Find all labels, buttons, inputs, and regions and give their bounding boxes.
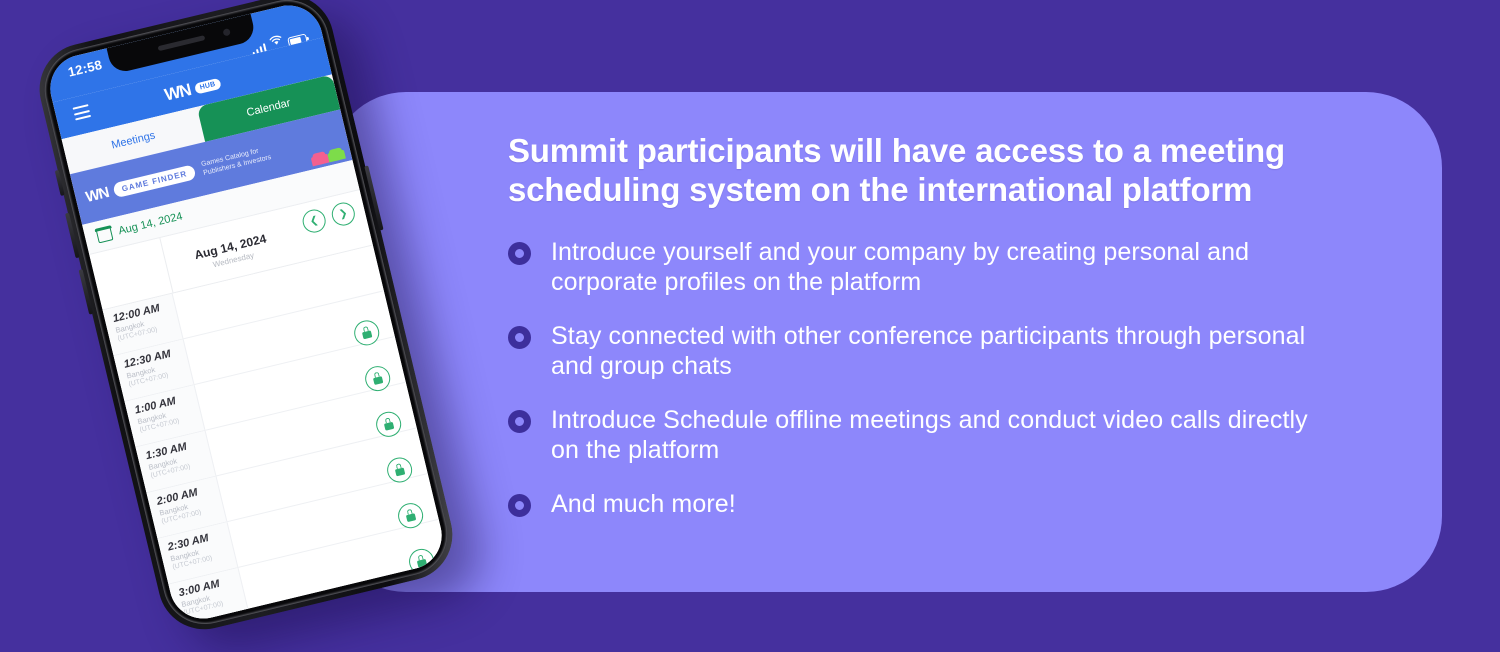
list-item: And much more!	[508, 489, 1390, 519]
list-item-label: And much more!	[551, 489, 736, 519]
alien-pink-icon	[312, 151, 327, 165]
front-camera-icon	[222, 28, 230, 36]
list-item-label: Introduce yourself and your company by c…	[551, 237, 1321, 297]
date-bar-label: Aug 14, 2024	[117, 210, 183, 237]
ring-bullet-icon	[508, 242, 531, 265]
app-logo-text: WN	[163, 80, 193, 106]
card-inner: Summit participants will have access to …	[508, 132, 1390, 519]
status-time: 12:58	[66, 57, 103, 80]
ring-bullet-icon	[508, 494, 531, 517]
time-slot-list: 12:00 AM Bangkok (UTC+07:00) 12:30 AM Ba…	[103, 246, 449, 626]
list-item-label: Stay connected with other conference par…	[551, 321, 1321, 381]
list-item: Stay connected with other conference par…	[508, 321, 1390, 381]
promo-subtitle: Games Catalog for Publishers & Investors	[200, 139, 290, 178]
app-logo[interactable]: WN HUB	[163, 73, 223, 106]
alien-green-icon	[329, 147, 344, 161]
hamburger-menu-icon[interactable]	[73, 104, 92, 124]
ring-bullet-icon	[508, 410, 531, 433]
list-item: Introduce yourself and your company by c…	[508, 237, 1390, 297]
earpiece-speaker-icon	[158, 35, 206, 51]
slot-body[interactable]	[260, 611, 448, 625]
content-card: Summit participants will have access to …	[330, 92, 1442, 592]
feature-list: Introduce yourself and your company by c…	[508, 237, 1390, 519]
list-item-label: Introduce Schedule offline meetings and …	[551, 405, 1321, 465]
lock-icon[interactable]	[417, 592, 447, 622]
ring-bullet-icon	[508, 326, 531, 349]
page-title: Summit participants will have access to …	[508, 132, 1348, 209]
app-logo-badge: HUB	[194, 77, 222, 94]
promo-logo-text: WN	[84, 184, 110, 206]
list-item: Introduce Schedule offline meetings and …	[508, 405, 1390, 465]
promo-tag: GAME FINDER	[112, 164, 196, 198]
calendar-icon	[96, 226, 114, 243]
slide-root: Summit participants will have access to …	[0, 0, 1500, 652]
